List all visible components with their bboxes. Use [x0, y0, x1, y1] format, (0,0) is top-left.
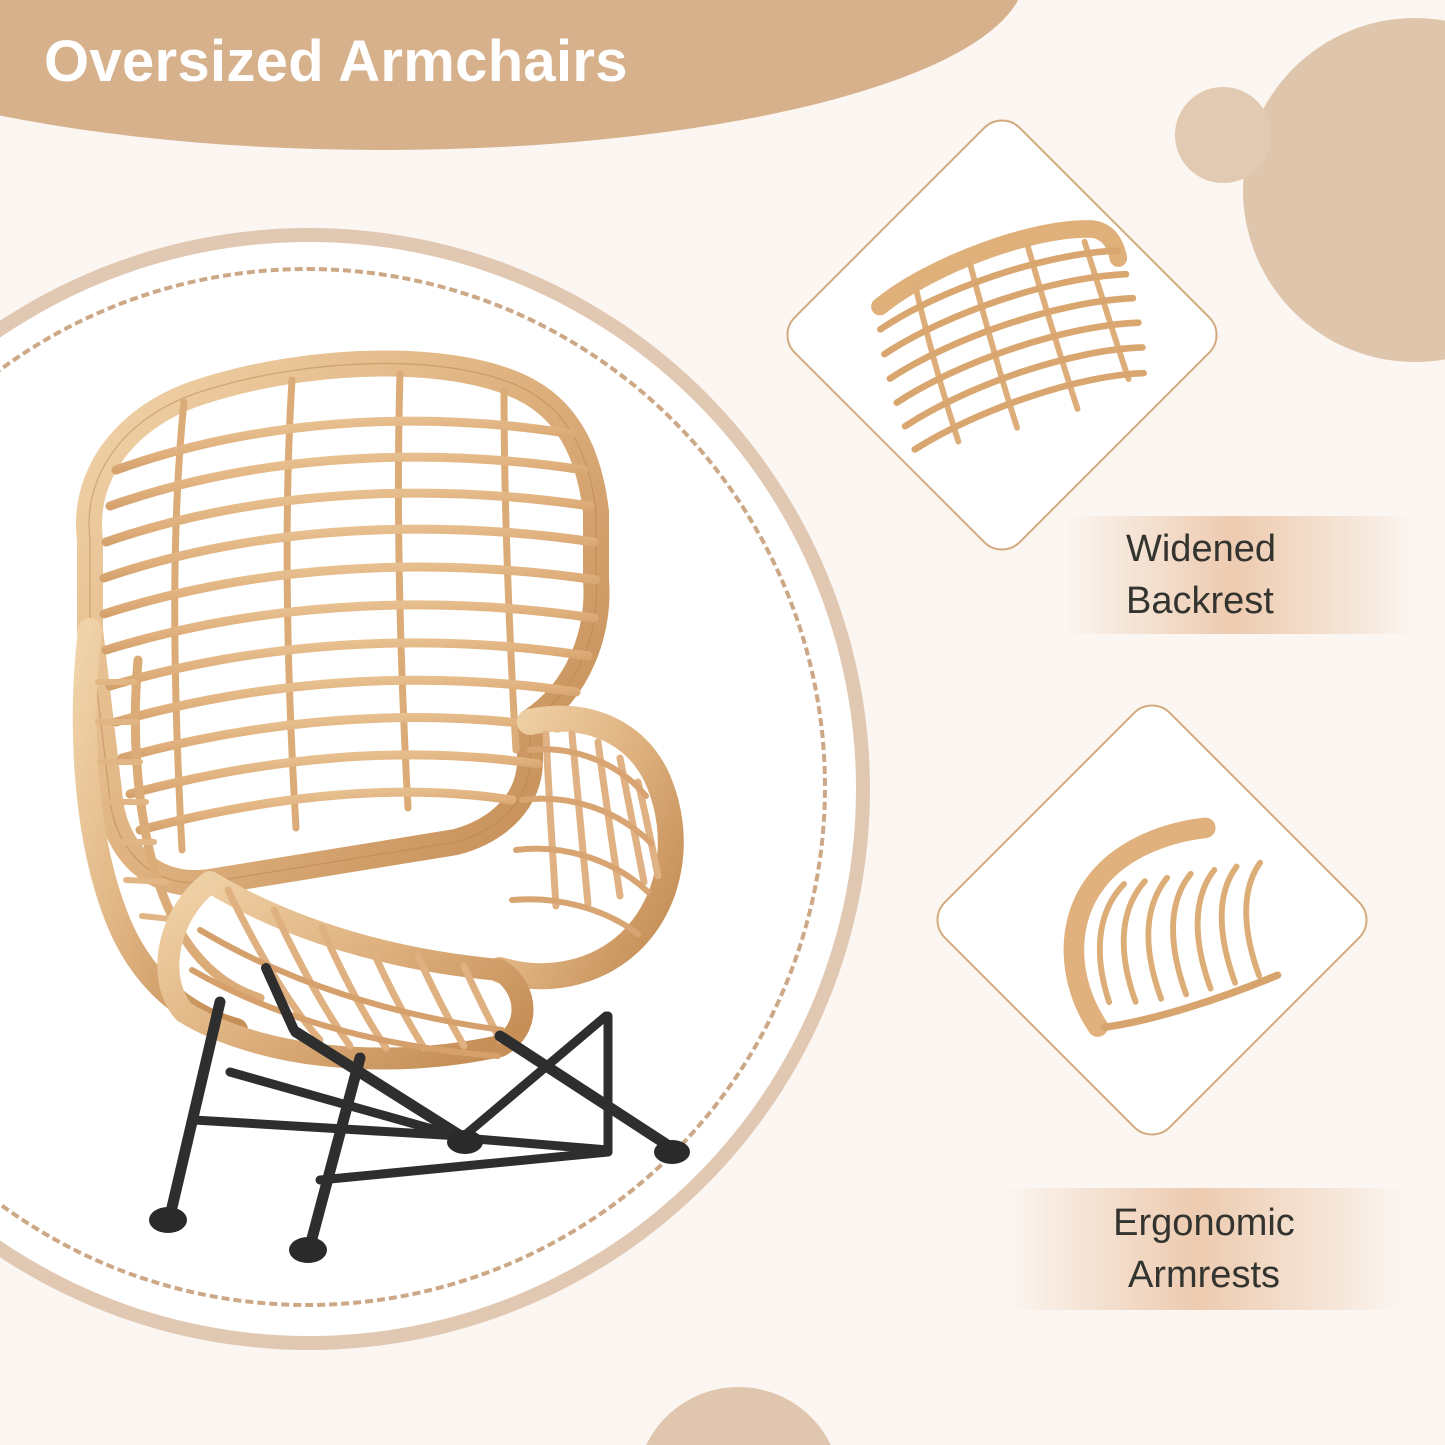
decorative-large-circle	[1243, 18, 1445, 362]
chair-backrest-shell	[89, 363, 597, 883]
decorative-bottom-circle	[636, 1387, 841, 1445]
infographic-stage: Oversized Armchairs	[0, 0, 1445, 1445]
foot-cap-front-left	[149, 1207, 187, 1233]
armrest-detail-inner	[994, 762, 1310, 1078]
caption-backrest-line-1: Widened	[1126, 523, 1276, 575]
caption-armrests-line-2: Armrests	[1128, 1249, 1280, 1301]
chair-metal-legs	[170, 968, 672, 1246]
caption-ergonomic-armrests: Ergonomic Armrests	[1004, 1188, 1404, 1310]
backrest-vertical-ribs	[175, 374, 516, 850]
foot-cap-rear-left	[447, 1130, 483, 1154]
backrest-detail-panel[interactable]	[776, 109, 1229, 562]
armrest-detail-panel[interactable]	[926, 694, 1379, 1147]
caption-widened-backrest: Widened Backrest	[1064, 516, 1414, 634]
foot-cap-rear-right	[654, 1140, 690, 1164]
backrest-detail-inner	[844, 177, 1160, 493]
backrest-frame	[89, 363, 597, 883]
caption-backrest-line-2: Backrest	[1126, 575, 1274, 627]
decorative-small-circle	[1175, 87, 1271, 183]
caption-armrests-line-1: Ergonomic	[1113, 1197, 1295, 1249]
foot-cap-front-center	[289, 1237, 327, 1263]
page-title: Oversized Armchairs	[44, 28, 628, 95]
rattan-armchair-image	[60, 330, 700, 1270]
chair-seat	[168, 882, 522, 1059]
